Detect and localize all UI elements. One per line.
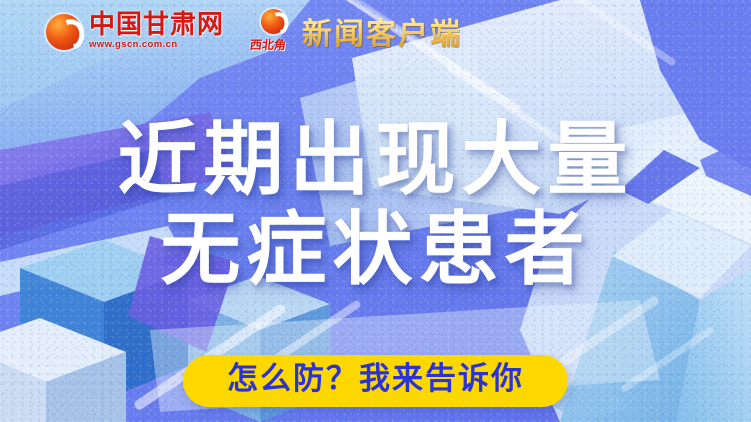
subtitle-banner-wrap: 怎么防？我来告诉你 [0, 355, 751, 407]
news-app-logo[interactable]: 西北角 新闻客户端 [250, 9, 462, 53]
headline-line-2: 无症状患者 [0, 208, 751, 293]
news-app-title: 新闻客户端 [302, 9, 462, 53]
logo-bar: 中国甘肃网 www.gscn.com.cn 西北角 新闻客户端 [0, 0, 751, 62]
subtitle-banner[interactable]: 怎么防？我来告诉你 [183, 355, 568, 407]
gscn-name: 中国甘肃网 [89, 12, 224, 38]
gansu-net-swan-logo-icon [46, 14, 82, 50]
gscn-logo-text: 中国甘肃网 www.gscn.com.cn [89, 12, 224, 50]
xibeijiao-label: 西北角 [249, 36, 287, 53]
xibeijiao-logo-icon [261, 9, 286, 34]
headline: 近期出现大量 无症状患者 [0, 118, 751, 293]
gscn-url: www.gscn.com.cn [89, 40, 224, 50]
xibeijiao-badge: 西北角 [250, 9, 296, 53]
poster: 中国甘肃网 www.gscn.com.cn 西北角 新闻客户端 近期出现大量 无… [0, 0, 751, 422]
subtitle-banner-text: 怎么防？我来告诉你 [227, 362, 524, 398]
gscn-logo[interactable]: 中国甘肃网 www.gscn.com.cn [46, 12, 224, 50]
headline-line-1: 近期出现大量 [0, 118, 751, 203]
